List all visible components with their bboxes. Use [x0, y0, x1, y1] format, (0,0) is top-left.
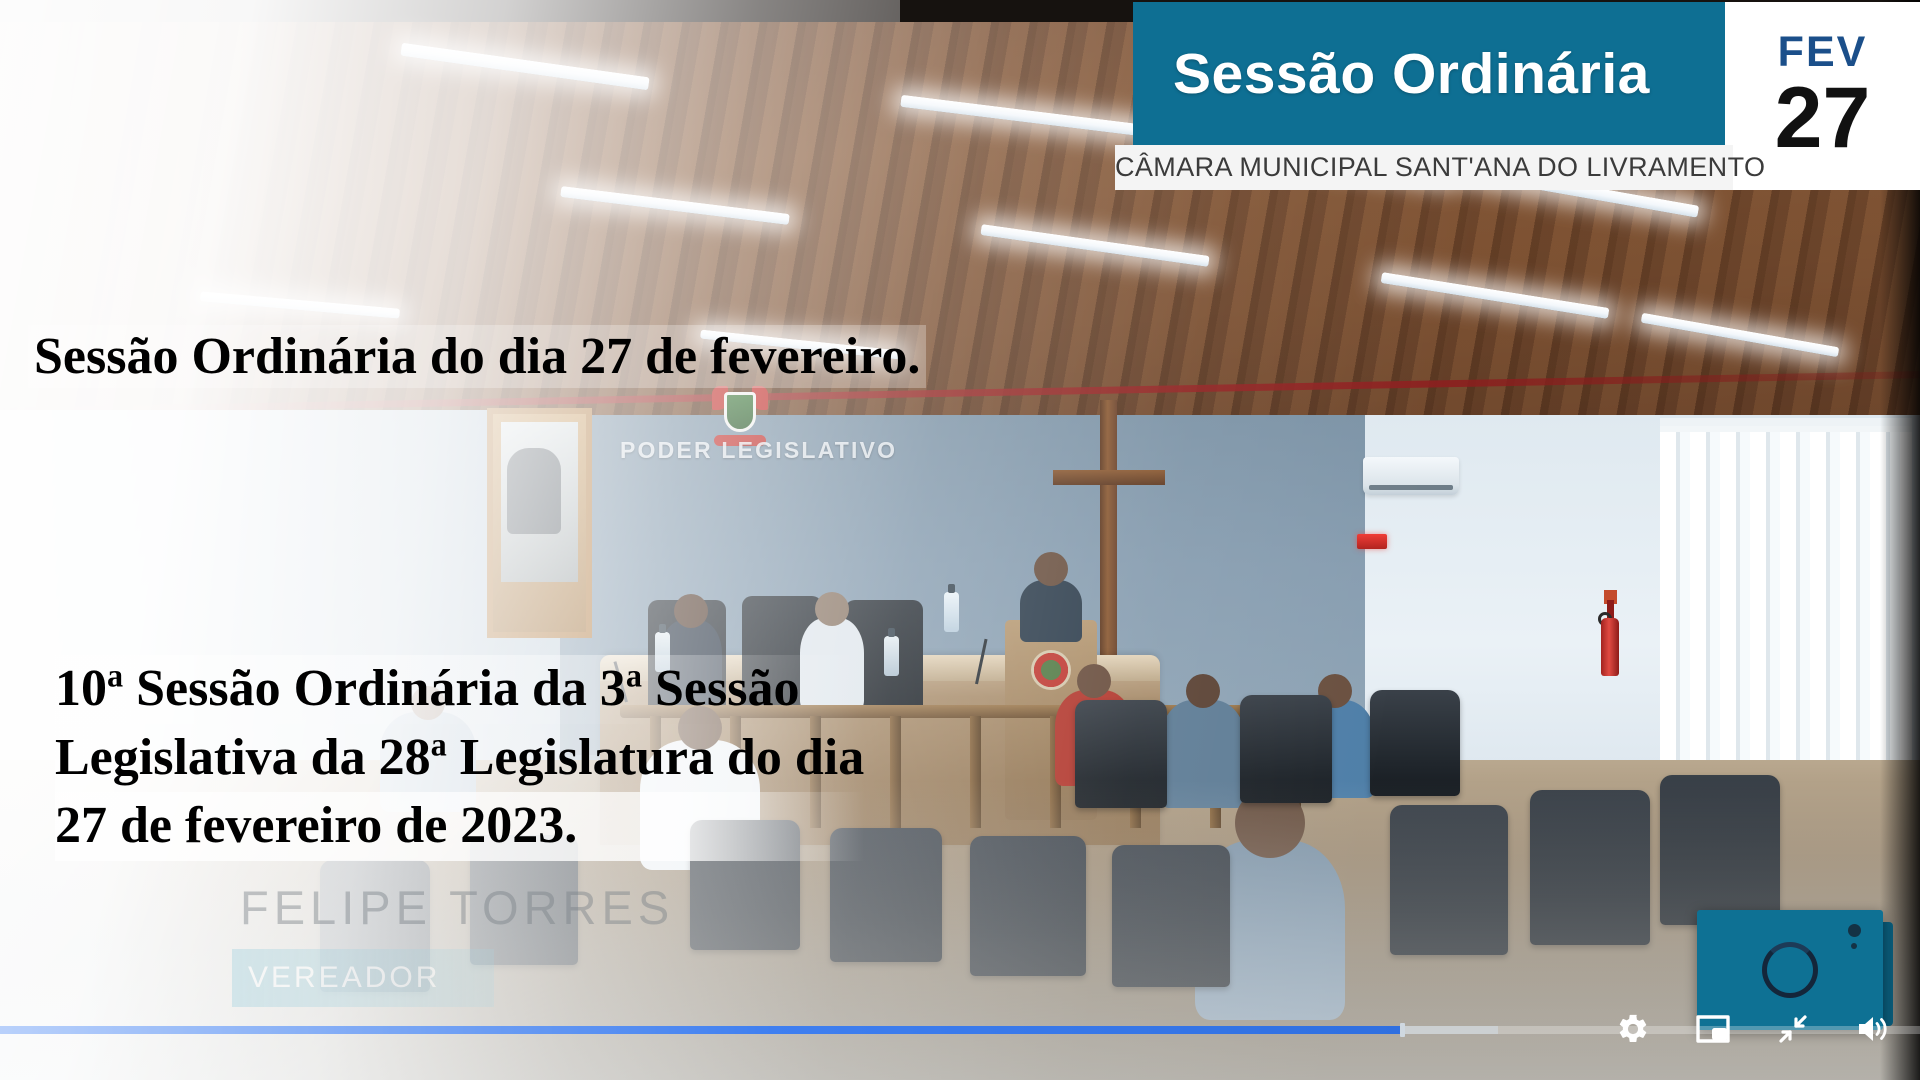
person-head: [815, 592, 849, 626]
volume-speaker-icon[interactable]: [1854, 1010, 1892, 1048]
person-head: [1077, 664, 1111, 698]
caption-line-1: 10a Sessão Ordinária da 3a Sessão: [55, 655, 864, 724]
water-bottle: [884, 636, 899, 676]
banner-subtitle-bar: CÂMARA MUNICIPAL SANT'ANA DO LIVRAMENTO: [1115, 145, 1733, 190]
air-conditioner: [1363, 457, 1459, 495]
player-control-bar[interactable]: [0, 984, 1920, 1080]
player-controls-group[interactable]: [1614, 1010, 1892, 1048]
audience-chair: [1240, 695, 1332, 803]
loading-dot-large-icon: [1848, 924, 1861, 937]
audience-chair: [970, 836, 1086, 976]
exit-fullscreen-icon[interactable]: [1774, 1010, 1812, 1048]
settings-gear-icon[interactable]: [1614, 1010, 1652, 1048]
audience-chair: [1370, 690, 1460, 796]
caption-line-3: 27 de fevereiro de 2023.: [55, 792, 864, 861]
audience-chair: [1530, 790, 1650, 945]
video-player[interactable]: PODER LEGISLATIVO: [0, 0, 1920, 1080]
caption-body: 10a Sessão Ordinária da 3a Sessão Legisl…: [55, 655, 864, 861]
wall-cross-horizontal: [1053, 470, 1165, 485]
lower-third-name: FELIPE TORRES: [232, 878, 682, 937]
progress-fill: [0, 1026, 1402, 1034]
wall-cross-vertical: [1100, 400, 1117, 660]
extinguisher-body: [1601, 618, 1619, 676]
caption-line-2: Legislativa da 28a Legislatura do dia: [55, 724, 864, 793]
emblem-shield: [724, 392, 756, 432]
person-head: [1186, 674, 1220, 708]
banner-subtitle: CÂMARA MUNICIPAL SANT'ANA DO LIVRAMENTO: [1115, 152, 1733, 183]
audience-chair: [1112, 845, 1230, 987]
banner-teal-block: Sessão Ordinária: [1133, 2, 1733, 145]
podium-emblem: [1031, 650, 1071, 690]
fire-extinguisher: [1598, 590, 1622, 676]
emergency-light: [1357, 534, 1387, 549]
person-head: [674, 594, 708, 628]
banner-day: 27: [1775, 76, 1871, 160]
picture-in-picture-icon[interactable]: [1694, 1010, 1732, 1048]
railing-post: [970, 716, 981, 828]
session-banner: Sessão Ordinária FEV 27 CÂMARA MUNICIPAL…: [1133, 0, 1920, 190]
audience-member: [1160, 700, 1246, 808]
water-bottle: [944, 592, 959, 632]
person-silhouette: [507, 448, 561, 534]
standing-speaker: [1020, 580, 1082, 642]
railing-post: [890, 716, 901, 828]
banner-month: FEV: [1778, 31, 1868, 74]
progress-scrubber-handle[interactable]: [1400, 1023, 1405, 1037]
banner-title: Sessão Ordinária: [1133, 41, 1650, 107]
window-blinds: [1660, 418, 1912, 790]
audience-chair: [1660, 775, 1780, 925]
loading-dot-small-icon: [1851, 943, 1857, 949]
chamber-door: [487, 408, 592, 638]
caption-heading: Sessão Ordinária do dia 27 de fevereiro.: [28, 325, 926, 388]
audience-chair: [1075, 700, 1167, 808]
wall-sign-poder-legislativo: PODER LEGISLATIVO: [620, 437, 860, 464]
person-head: [1034, 552, 1068, 586]
air-conditioner-vent: [1369, 485, 1453, 490]
audience-chair: [1390, 805, 1508, 955]
